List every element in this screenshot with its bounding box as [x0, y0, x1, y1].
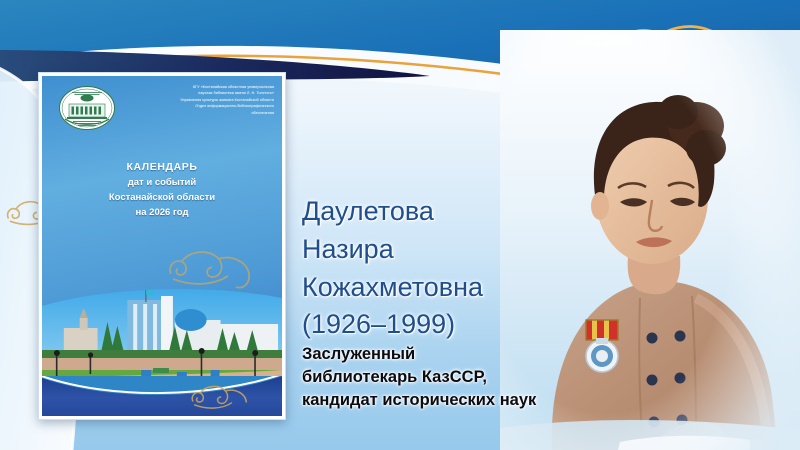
book-title-line3: Костанайской области: [42, 190, 282, 205]
book-cover-face: КГУ «Костанайская областная универсальна…: [42, 76, 282, 416]
person-life-dates: (1926–1999): [302, 306, 602, 342]
person-name-line-1: Даулетова: [302, 192, 602, 230]
book-organisation-text: КГУ «Костанайская областная универсальна…: [124, 84, 274, 116]
book-title-line2: дат и событий: [42, 175, 282, 190]
book-title-main: КАЛЕНДАРЬ: [42, 160, 282, 175]
person-desc-line-1: Заслуженный: [302, 344, 602, 365]
presentation-slide: КГУ «Костанайская областная универсальна…: [0, 0, 800, 450]
library-emblem-icon: [58, 84, 116, 132]
person-desc-line-2: библиотекарь КазССР,: [302, 367, 602, 388]
person-desc-line-3: кандидат исторических наук: [302, 390, 602, 411]
book-header: КГУ «Костанайская областная универсальна…: [42, 76, 282, 142]
person-name-line-3: Кожахметовна: [302, 268, 602, 306]
person-name-line-2: Назира: [302, 230, 602, 268]
person-text-block: Даулетова Назира Кожахметовна (1926–1999…: [302, 192, 602, 411]
calendar-book-cover: КГУ «Костанайская областная универсальна…: [38, 72, 286, 420]
book-title: КАЛЕНДАРЬ дат и событий Костанайской обл…: [42, 160, 282, 220]
book-title-line4: на 2026 год: [42, 205, 282, 220]
book-footer-band: [42, 376, 282, 416]
org-line-5: обеспечения: [124, 110, 274, 116]
book-footer-ornament-icon: [42, 376, 282, 416]
